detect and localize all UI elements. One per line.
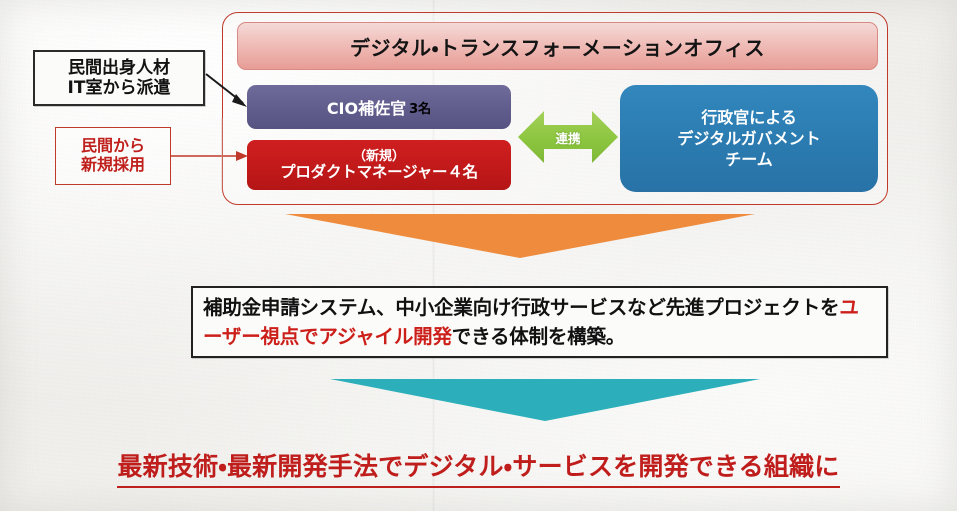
gov-team-line-3: チーム	[725, 149, 773, 170]
bottom-headline: 最新技術・最新開発手法でデジタル・サービスを開発できる組織に	[0, 447, 957, 488]
cio-advisor-count: 3名	[409, 98, 431, 117]
summary-paragraph: 補助金申請システム、中小企業向け行政サービスなど先進プロジェクトをユーザー視点で…	[203, 294, 876, 352]
product-manager-label: プロダクトマネージャー４名	[280, 164, 478, 180]
flow-arrow-down-teal-icon	[330, 379, 760, 421]
summary-segment-1: 補助金申請システム、中小企業向け行政サービスなど先進プロジェクトを	[203, 296, 839, 319]
product-manager-box[interactable]: （新規） プロダクトマネージャー４名	[247, 140, 511, 190]
note-new-hire-line-2: 新規採用	[81, 156, 145, 175]
summary-segment-2: できる体制を構築。	[452, 325, 625, 348]
collaboration-double-arrow-icon	[518, 108, 618, 166]
office-title-box: デジタル・トランスフォーメーションオフィス	[237, 22, 878, 70]
flow-arrow-down-orange-icon	[285, 214, 755, 258]
digital-government-team-box[interactable]: 行政官による デジタルガバメント チーム	[620, 85, 878, 192]
office-title-label: デジタル・トランスフォーメーションオフィス	[350, 32, 765, 61]
bottom-headline-label: 最新技術・最新開発手法でデジタル・サービスを開発できる組織に	[117, 447, 839, 488]
note-dispatch-line-2: IT室から派遣	[68, 78, 171, 98]
cio-advisor-box[interactable]: CIO補佐官 3名	[247, 85, 511, 129]
note-new-hire-line-1: 民間から	[81, 137, 145, 156]
note-dispatch-from-it-office: 民間出身人材 IT室から派遣	[33, 50, 205, 106]
summary-statement-box: 補助金申請システム、中小企業向け行政サービスなど先進プロジェクトをユーザー視点で…	[191, 286, 888, 358]
product-manager-new-tag: （新規）	[353, 150, 405, 164]
gov-team-line-2: デジタルガバメント	[677, 128, 820, 149]
note-dispatch-line-1: 民間出身人材	[68, 58, 170, 78]
note-new-hire-from-private-sector: 民間から 新規採用	[55, 127, 171, 185]
slide-canvas: デジタル・トランスフォーメーションオフィス CIO補佐官 3名 （新規） プロダ…	[0, 0, 957, 511]
cio-advisor-label: CIO補佐官	[327, 95, 406, 119]
gov-team-line-1: 行政官による	[701, 107, 797, 128]
